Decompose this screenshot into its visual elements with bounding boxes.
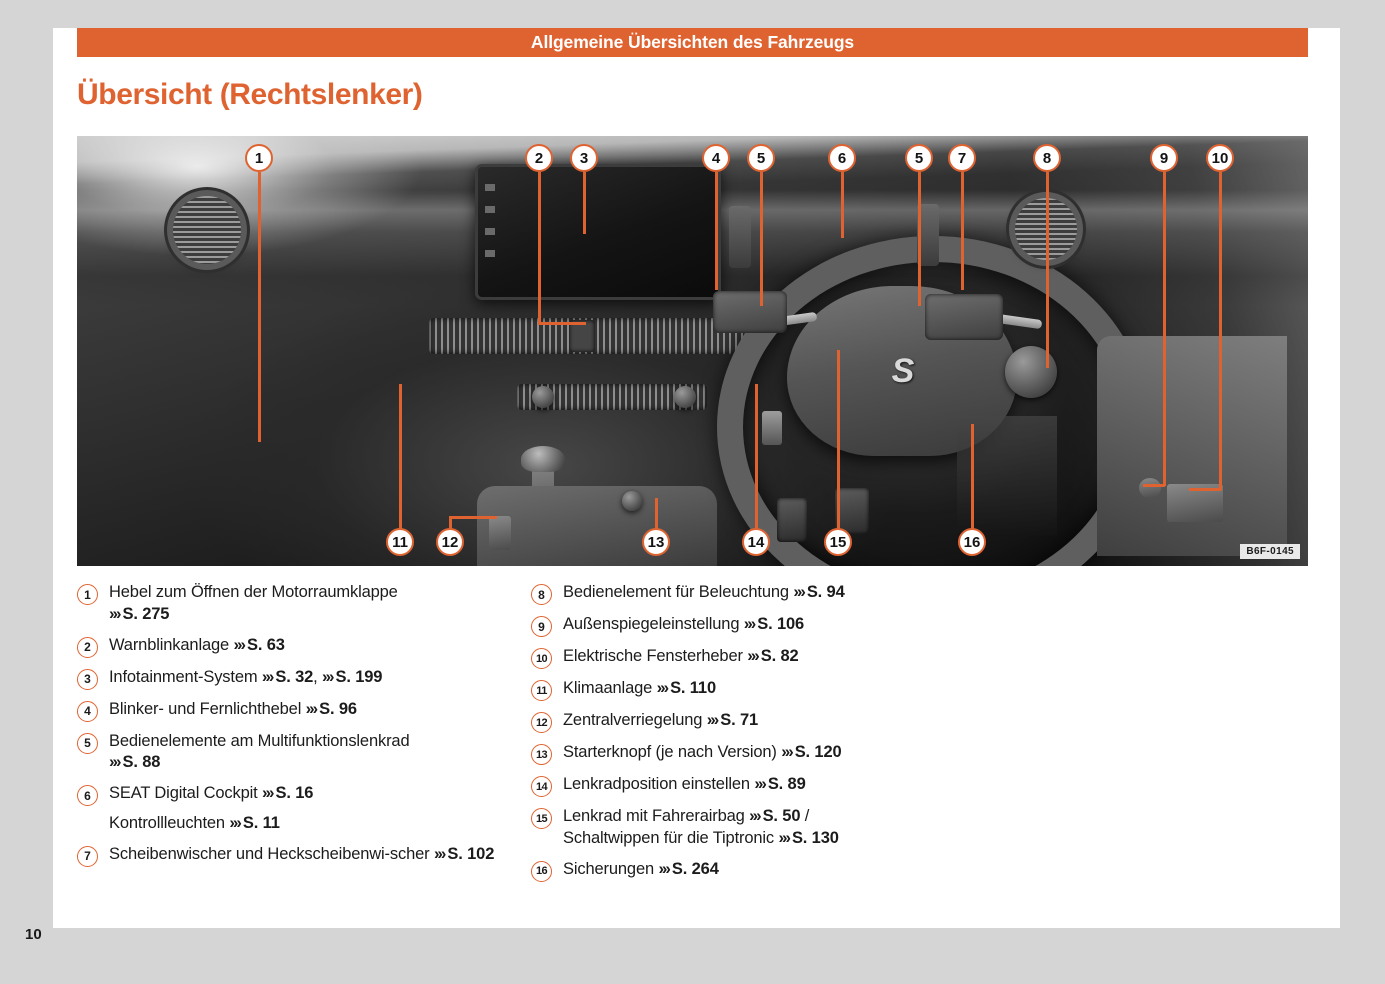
leader-line-9-h <box>1143 484 1165 487</box>
leader-line-7 <box>961 172 964 290</box>
legend-label-2: Warnblinkanlage <box>109 636 233 654</box>
legend-text-14: Lenkradposition einstellen ›››S. 89 <box>563 774 806 796</box>
pedal-right <box>835 488 869 534</box>
chevron-icon: ››› <box>744 615 757 633</box>
callout-marker-8[interactable]: 8 <box>1033 144 1061 172</box>
legend-sub-ref-6[interactable]: ›››S. 11 <box>229 814 279 832</box>
legend-text-4: Blinker- und Fernlichthebel ›››S. 96 <box>109 699 357 721</box>
leader-line-15 <box>837 350 840 530</box>
callout-marker-16[interactable]: 16 <box>958 528 986 556</box>
legend-ref-11[interactable]: ›››S. 110 <box>657 679 716 697</box>
callout-marker-6[interactable]: 6 <box>828 144 856 172</box>
leader-line-3 <box>583 172 586 234</box>
chevron-icon: ››› <box>229 814 242 832</box>
list-item[interactable]: 2 Warnblinkanlage ›››S. 63 <box>77 635 497 658</box>
chevron-icon: ››› <box>657 679 670 697</box>
legend-ref-6[interactable]: ›››S. 16 <box>262 784 313 802</box>
callout-marker-5a[interactable]: 5 <box>747 144 775 172</box>
legend-text-5: Bedienelemente am Multifunktionslenkrad … <box>109 731 410 775</box>
legend-ref-8[interactable]: ›››S. 94 <box>793 583 844 601</box>
leader-line-1 <box>258 172 261 442</box>
callout-marker-5b[interactable]: 5 <box>905 144 933 172</box>
legend-ref-1[interactable]: ›››S. 275 <box>109 605 169 623</box>
legend-label-5: Bedienelemente am Multifunktionslenkrad <box>109 732 410 750</box>
leader-line-12-h <box>449 516 497 519</box>
legend-badge-6: 6 <box>77 785 98 806</box>
legend-ref-12[interactable]: ›››S. 71 <box>707 711 758 729</box>
legend-ref-16[interactable]: ›››S. 264 <box>658 860 718 878</box>
chevron-icon: ››› <box>233 636 246 654</box>
legend-subitem-6[interactable]: Kontrollleuchten ›››S. 11 <box>109 813 497 835</box>
leader-line-13 <box>655 498 658 530</box>
legend-ref-13[interactable]: ›››S. 120 <box>781 743 841 761</box>
legend-label-3: Infotainment-System <box>109 668 262 686</box>
legend-ref-5[interactable]: ›››S. 88 <box>109 753 160 771</box>
callout-marker-2[interactable]: 2 <box>525 144 553 172</box>
list-item[interactable]: 6 SEAT Digital Cockpit ›››S. 16 <box>77 783 497 806</box>
legend-badge-2: 2 <box>77 637 98 658</box>
legend-badge-13: 13 <box>531 744 552 765</box>
list-item[interactable]: 14 Lenkradposition einstellen ›››S. 89 <box>531 774 951 797</box>
legend-label-1: Hebel zum Öffnen der Motorraumklappe <box>109 583 398 601</box>
paddle-shifter <box>762 411 782 445</box>
list-item[interactable]: 3 Infotainment-System ›››S. 32, ›››S. 19… <box>77 667 497 690</box>
list-item[interactable]: 7 Scheibenwischer und Heckscheibenwi-sch… <box>77 844 497 867</box>
legend-separator: , <box>313 668 322 686</box>
chevron-icon: ››› <box>306 700 319 718</box>
legend-badge-11: 11 <box>531 680 552 701</box>
legend-text-3: Infotainment-System ›››S. 32, ›››S. 199 <box>109 667 382 689</box>
legend-text-1: Hebel zum Öffnen der Motorraumklappe ›››… <box>109 582 398 626</box>
chevron-icon: ››› <box>781 743 794 761</box>
climate-knob-right <box>674 386 696 408</box>
seat-logo-icon: S <box>892 352 913 391</box>
leader-line-11 <box>399 384 402 530</box>
legend-label-13: Starterknopf (je nach Version) <box>563 743 781 761</box>
legend-sub-label-6: Kontrollleuchten <box>109 814 229 832</box>
central-locking-switch <box>489 516 511 550</box>
leader-line-4 <box>715 172 718 290</box>
chevron-icon: ››› <box>109 753 122 771</box>
starter-button <box>622 491 642 511</box>
mirror-adjust-switch <box>1139 478 1161 498</box>
legend-label-8: Bedienelement für Beleuchtung <box>563 583 793 601</box>
center-console <box>477 486 717 566</box>
list-item[interactable]: 10 Elektrische Fensterheber ›››S. 82 <box>531 646 951 669</box>
chevron-icon: ››› <box>434 845 447 863</box>
list-item[interactable]: 15 Lenkrad mit Fahrerairbag ›››S. 50 / S… <box>531 806 951 850</box>
multifunction-controls-left <box>713 291 787 333</box>
leader-line-16 <box>971 424 974 530</box>
leader-line-9 <box>1163 172 1166 486</box>
legend-badge-3: 3 <box>77 669 98 690</box>
callout-marker-12[interactable]: 12 <box>436 528 464 556</box>
legend-text-7: Scheibenwischer und Heckscheibenwi-scher… <box>109 844 494 866</box>
page-number: 10 <box>25 926 42 943</box>
legend-label-9: Außenspiegeleinstellung <box>563 615 744 633</box>
chevron-icon: ››› <box>262 668 275 686</box>
callout-marker-4[interactable]: 4 <box>702 144 730 172</box>
running-header: Allgemeine Übersichten des Fahrzeugs <box>77 28 1308 57</box>
list-item[interactable]: 12 Zentralverriegelung ›››S. 71 <box>531 710 951 733</box>
callout-marker-10[interactable]: 10 <box>1206 144 1234 172</box>
legend-column-left: 1 Hebel zum Öffnen der Motorraumklappe ›… <box>77 582 497 891</box>
legend-badge-15: 15 <box>531 808 552 829</box>
legend-label-16: Sicherungen <box>563 860 658 878</box>
turn-signal-stalk <box>729 206 751 268</box>
gear-knob <box>521 446 565 472</box>
climate-knob-left <box>532 386 554 408</box>
legend-column-right: 8 Bedienelement für Beleuchtung ›››S. 94… <box>531 582 951 891</box>
infotainment-screen <box>475 164 721 300</box>
legend-ref-15a[interactable]: ›››S. 50 <box>749 807 800 825</box>
legend-badge-1: 1 <box>77 584 98 605</box>
callout-marker-9[interactable]: 9 <box>1150 144 1178 172</box>
legend-badge-7: 7 <box>77 846 98 867</box>
legend-text-2: Warnblinkanlage ›››S. 63 <box>109 635 285 657</box>
left-air-vent-icon <box>173 196 241 264</box>
chevron-icon: ››› <box>778 829 791 847</box>
legend-badge-4: 4 <box>77 701 98 722</box>
list-item[interactable]: 1 Hebel zum Öffnen der Motorraumklappe ›… <box>77 582 497 626</box>
multifunction-controls-right <box>925 294 1003 340</box>
legend-ref-15b[interactable]: ›››S. 130 <box>778 829 838 847</box>
list-item[interactable]: 8 Bedienelement für Beleuchtung ›››S. 94 <box>531 582 951 605</box>
legend-label-12: Zentralverriegelung <box>563 711 707 729</box>
list-item[interactable]: 5 Bedienelemente am Multifunktionslenkra… <box>77 731 497 775</box>
callout-marker-11[interactable]: 11 <box>386 528 414 556</box>
manual-page: Allgemeine Übersichten des Fahrzeugs 10 … <box>0 0 1385 984</box>
legend-label-4: Blinker- und Fernlichthebel <box>109 700 306 718</box>
legend-label-10: Elektrische Fensterheber <box>563 647 747 665</box>
legend-text-11: Klimaanlage ›››S. 110 <box>563 678 716 700</box>
leader-line-2 <box>538 172 541 324</box>
list-item[interactable]: 11 Klimaanlage ›››S. 110 <box>531 678 951 701</box>
legend-label-6: SEAT Digital Cockpit <box>109 784 262 802</box>
pedal-left <box>777 498 807 542</box>
chevron-icon: ››› <box>658 860 671 878</box>
legend-ref-9[interactable]: ›››S. 106 <box>744 615 804 633</box>
list-item[interactable]: 4 Blinker- und Fernlichthebel ›››S. 96 <box>77 699 497 722</box>
callout-marker-3[interactable]: 3 <box>570 144 598 172</box>
legend-text-12: Zentralverriegelung ›››S. 71 <box>563 710 758 732</box>
chevron-icon: ››› <box>322 668 335 686</box>
screen-side-buttons <box>485 184 495 270</box>
figure-id-label: B6F-0145 <box>1240 544 1300 559</box>
chevron-icon: ››› <box>262 784 275 802</box>
callout-marker-14[interactable]: 14 <box>742 528 770 556</box>
door-panel <box>1097 336 1287 556</box>
chevron-icon: ››› <box>747 647 760 665</box>
legend-ref-4[interactable]: ›››S. 96 <box>306 700 357 718</box>
leader-line-14 <box>755 384 758 530</box>
legend-text-9: Außenspiegeleinstellung ›››S. 106 <box>563 614 804 636</box>
legend-text-6: SEAT Digital Cockpit ›››S. 16 <box>109 783 313 805</box>
list-item[interactable]: 16 Sicherungen ›››S. 264 <box>531 859 951 882</box>
callout-marker-1[interactable]: 1 <box>245 144 273 172</box>
leader-line-10-h <box>1189 488 1221 491</box>
leader-line-10 <box>1219 172 1222 490</box>
legend-ref-14[interactable]: ›››S. 89 <box>754 775 805 793</box>
legend-text-8: Bedienelement für Beleuchtung ›››S. 94 <box>563 582 845 604</box>
leader-line-5b <box>918 172 921 306</box>
dashboard-illustration: S B6F-0145 <box>77 136 1308 566</box>
chevron-icon: ››› <box>793 583 806 601</box>
legend-label-11: Klimaanlage <box>563 679 657 697</box>
chevron-icon: ››› <box>707 711 720 729</box>
leader-line-8 <box>1046 172 1049 368</box>
legend-ref-2[interactable]: ›››S. 63 <box>233 636 284 654</box>
legend-badge-5: 5 <box>77 733 98 754</box>
legend-sub-label-15: Schaltwippen für die Tiptronic <box>563 829 778 847</box>
legend-text-16: Sicherungen ›››S. 264 <box>563 859 719 881</box>
legend-badge-8: 8 <box>531 584 552 605</box>
legend-text-15: Lenkrad mit Fahrerairbag ›››S. 50 / Scha… <box>563 806 839 850</box>
legend-label-15: Lenkrad mit Fahrerairbag <box>563 807 749 825</box>
chevron-icon: ››› <box>109 605 122 623</box>
legend-badge-12: 12 <box>531 712 552 733</box>
legend-ref-10[interactable]: ›››S. 82 <box>747 647 798 665</box>
legend-ref-7[interactable]: ›››S. 102 <box>434 845 494 863</box>
leader-line-2-h <box>538 322 586 325</box>
leader-line-5a <box>760 172 763 306</box>
legend-badge-9: 9 <box>531 616 552 637</box>
legend-badge-16: 16 <box>531 861 552 882</box>
chevron-icon: ››› <box>749 807 762 825</box>
callout-marker-7[interactable]: 7 <box>948 144 976 172</box>
legend-slash-15: / <box>800 807 809 825</box>
callout-marker-13[interactable]: 13 <box>642 528 670 556</box>
list-item[interactable]: 13 Starterknopf (je nach Version) ›››S. … <box>531 742 951 765</box>
legend-ref-3b[interactable]: ›››S. 199 <box>322 668 382 686</box>
legend-label-7: Scheibenwischer und Heckscheibenwi-scher <box>109 845 434 863</box>
light-switch-control <box>1005 346 1057 398</box>
list-item[interactable]: 9 Außenspiegeleinstellung ›››S. 106 <box>531 614 951 637</box>
legend-label-14: Lenkradposition einstellen <box>563 775 754 793</box>
legend-ref-3a[interactable]: ›››S. 32 <box>262 668 313 686</box>
legend-text-10: Elektrische Fensterheber ›››S. 82 <box>563 646 799 668</box>
legend-badge-14: 14 <box>531 776 552 797</box>
legend-badge-10: 10 <box>531 648 552 669</box>
legend-text-13: Starterknopf (je nach Version) ›››S. 120 <box>563 742 842 764</box>
callout-marker-15[interactable]: 15 <box>824 528 852 556</box>
leader-line-6 <box>841 172 844 238</box>
page-title: Übersicht (Rechtslenker) <box>77 78 423 112</box>
chevron-icon: ››› <box>754 775 767 793</box>
legend: 1 Hebel zum Öffnen der Motorraumklappe ›… <box>77 582 1308 891</box>
